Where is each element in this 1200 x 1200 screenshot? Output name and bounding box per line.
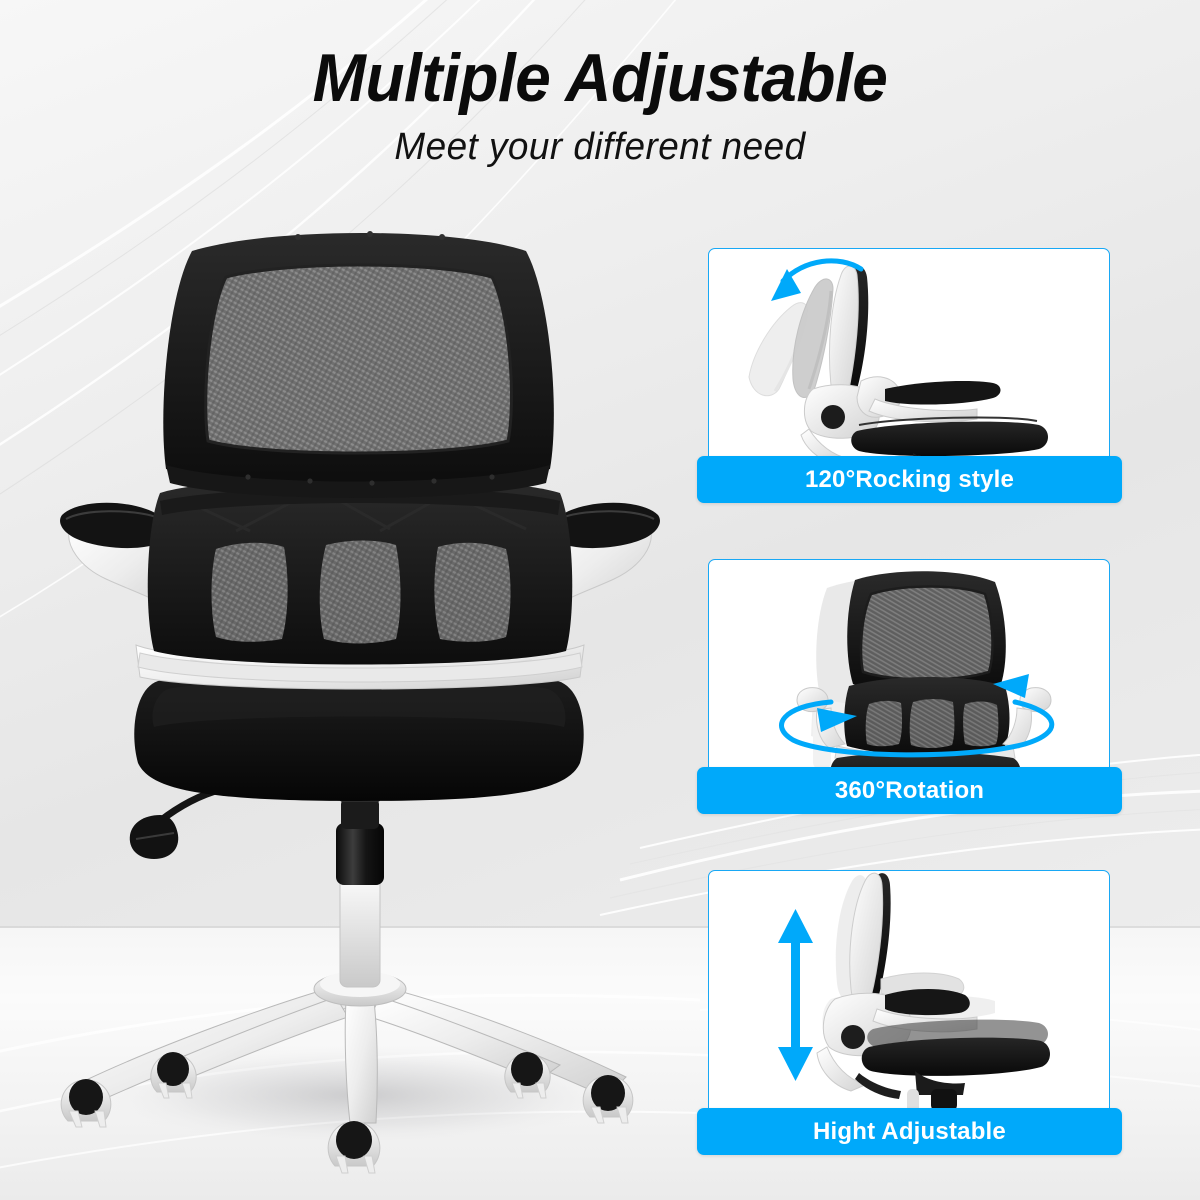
gas-cylinder [336,781,384,987]
seat-cushion [134,672,583,801]
lumbar-front [844,677,1009,755]
feature-label-text: Hight Adjustable [813,1118,1006,1146]
feature-card-rotation-label: 360°Rotation [697,767,1122,814]
backrest-ghost-mid [793,279,833,398]
feature-card-height-label: Hight Adjustable [697,1108,1122,1155]
page-title: Multiple Adjustable [36,0,1164,112]
banner-header: Multiple Adjustable Meet your different … [0,0,1200,166]
page-subtitle: Meet your different need [18,112,1182,166]
vertical-double-arrow-icon [778,909,813,1081]
hero-chair-image [40,215,680,1175]
tilt-pivot [821,405,845,429]
product-feature-banner: Multiple Adjustable Meet your different … [0,0,1200,1200]
tilt-lever[interactable] [130,789,222,859]
feature-label-text: 360°Rotation [835,777,984,805]
upper-mesh-backrest [163,231,554,498]
feature-label-text: 120°Rocking style [805,466,1014,494]
tilt-pivot [841,1025,865,1049]
feature-cards: 120°Rocking style [690,248,1150,1200]
upper-backrest-front [847,571,1006,694]
seat-side-3 [862,1020,1050,1076]
lumbar-mesh-back [148,478,573,665]
feature-card-rotation-image [708,559,1110,781]
feature-card-height[interactable]: Hight Adjustable [690,870,1150,1155]
feature-card-rocking-label: 120°Rocking style [697,456,1122,503]
feature-card-rotation[interactable]: 360°Rotation [690,559,1150,814]
feature-card-rocking[interactable]: 120°Rocking style [690,248,1150,503]
flip-up-armrest [857,377,1001,422]
feature-card-height-image [708,870,1110,1122]
seat-side [851,418,1048,457]
cylinder-base-3 [855,1071,965,1113]
feature-card-rocking-image [708,248,1110,470]
